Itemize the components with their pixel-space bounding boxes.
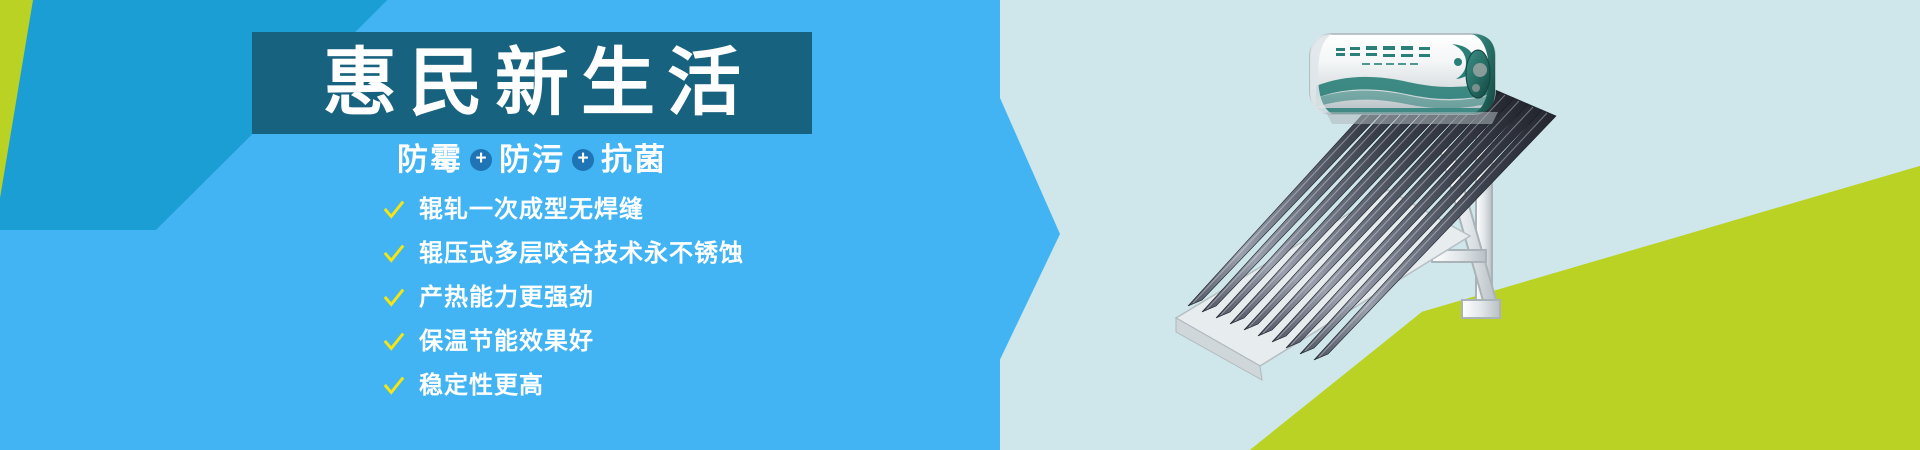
list-item: 产热能力更强劲 bbox=[383, 280, 744, 316]
feature-list: 辊轧一次成型无焊缝 辊压式多层咬合技术永不锈蚀 产热能力更强劲 保温节能效果好 bbox=[383, 192, 744, 404]
subtitle-part-1: 防霉 bbox=[397, 144, 463, 175]
list-item: 稳定性更高 bbox=[383, 368, 744, 404]
solar-water-heater-icon bbox=[1140, 0, 1570, 400]
feature-label: 辊压式多层咬合技术永不锈蚀 bbox=[419, 242, 744, 266]
list-item: 辊轧一次成型无焊缝 bbox=[383, 192, 744, 228]
feature-label: 产热能力更强劲 bbox=[419, 286, 594, 310]
promo-banner: 惠民新生活 防霉 + 防污 + 抗菌 辊轧一次成型无焊缝 辊压式多层咬合技术永不… bbox=[0, 0, 1920, 450]
feature-label: 保温节能效果好 bbox=[419, 330, 594, 354]
check-icon bbox=[383, 375, 405, 397]
check-icon bbox=[383, 287, 405, 309]
plus-icon-1: + bbox=[470, 149, 492, 171]
subtitle-row: 防霉 + 防污 + 抗菌 bbox=[252, 144, 812, 175]
list-item: 保温节能效果好 bbox=[383, 324, 744, 360]
check-icon bbox=[383, 199, 405, 221]
tank-manifold bbox=[1326, 112, 1498, 124]
list-item: 辊压式多层咬合技术永不锈蚀 bbox=[383, 236, 744, 272]
check-icon bbox=[383, 331, 405, 353]
storage-tank bbox=[1310, 34, 1500, 115]
feature-label: 辊轧一次成型无焊缝 bbox=[419, 198, 644, 222]
feature-label: 稳定性更高 bbox=[419, 374, 544, 398]
product-image-solar-water-heater bbox=[1140, 0, 1570, 400]
subtitle-part-2: 防污 bbox=[499, 144, 565, 175]
headline-text: 惠民新生活 bbox=[311, 46, 753, 120]
subtitle-part-3: 抗菌 bbox=[601, 144, 667, 175]
check-icon bbox=[383, 243, 405, 265]
plus-icon-2: + bbox=[572, 149, 594, 171]
headline-box: 惠民新生活 bbox=[252, 32, 812, 134]
